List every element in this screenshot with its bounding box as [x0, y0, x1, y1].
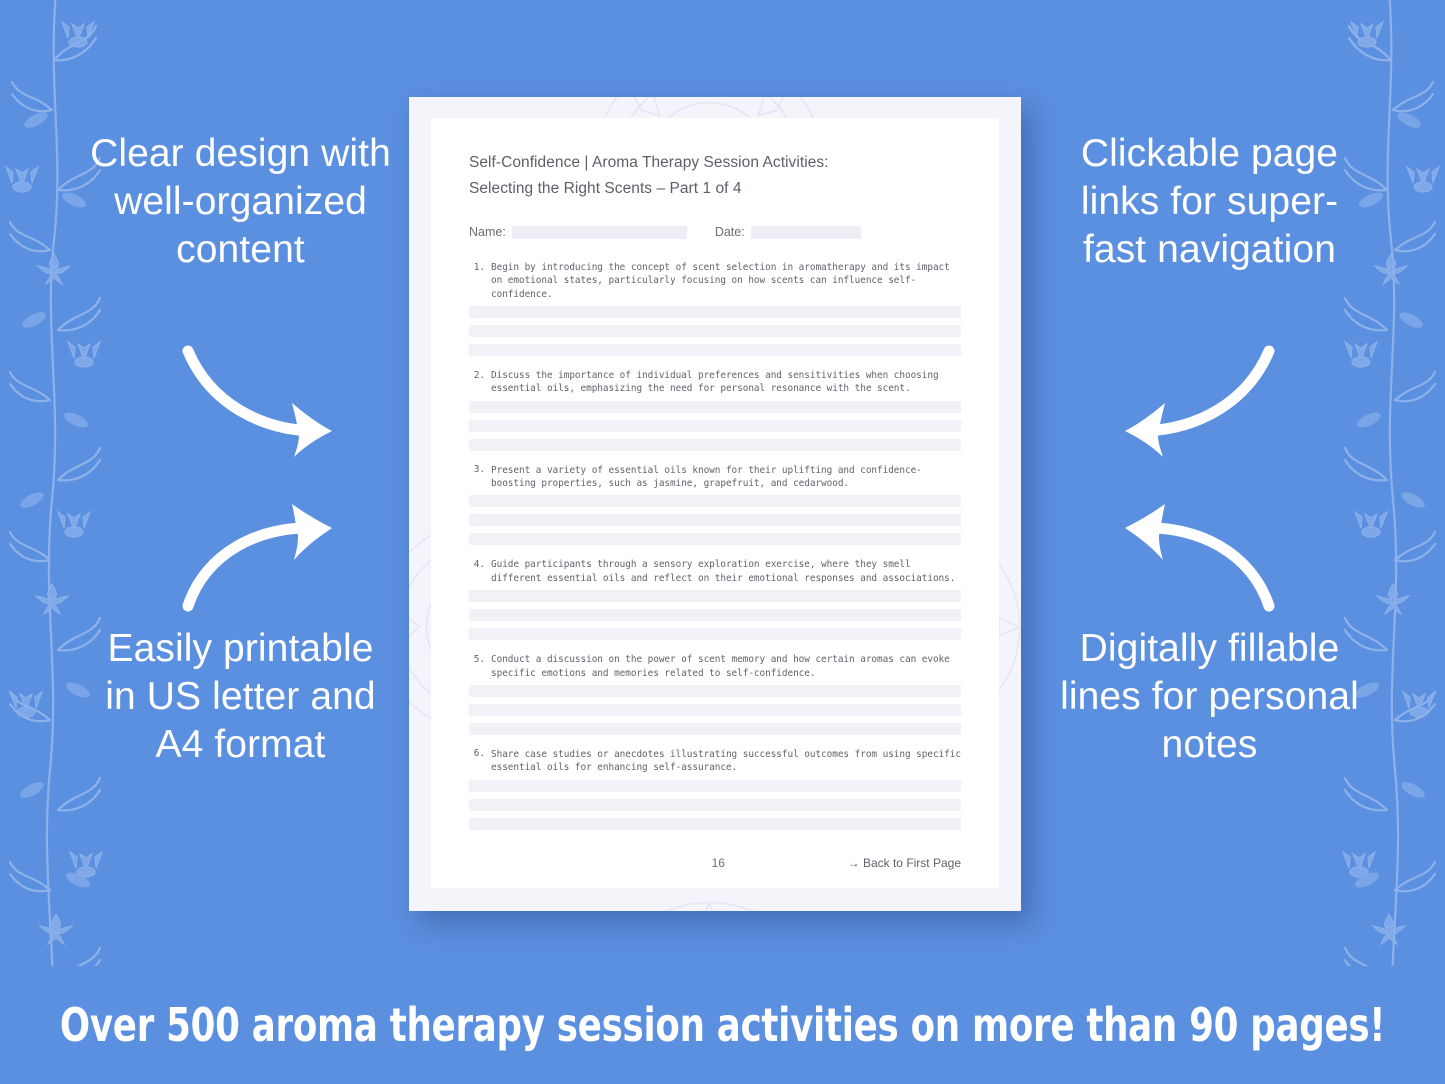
poster-canvas: Clear design with well-organized content… — [0, 0, 1445, 1084]
worksheet-footer: 16 → Back to First Page — [469, 856, 961, 870]
list-item: 4. Guide participants through a sensory … — [469, 558, 961, 640]
item-text: Guide participants through a sensory exp… — [485, 558, 961, 585]
activity-list: 1. Begin by introducing the concept of s… — [469, 261, 961, 829]
item-text: Discuss the importance of individual pre… — [485, 369, 961, 396]
fillable-lines-group — [469, 780, 961, 830]
bottom-banner: Over 500 aroma therapy session activitie… — [0, 966, 1445, 1084]
fillable-line[interactable] — [469, 514, 961, 526]
item-number: 1. — [469, 261, 485, 273]
fillable-line[interactable] — [469, 609, 961, 621]
item-number: 6. — [469, 748, 485, 760]
fillable-line[interactable] — [469, 628, 961, 640]
item-text: Begin by introducing the concept of scen… — [485, 261, 961, 301]
back-to-first-page-link[interactable]: → Back to First Page — [848, 856, 961, 870]
fillable-line[interactable] — [469, 344, 961, 356]
promo-printable: Easily printable in US letter and A4 for… — [88, 625, 393, 769]
list-item: 6. Share case studies or anecdotes illus… — [469, 748, 961, 830]
name-date-row: Name: Date: — [469, 225, 961, 239]
fillable-lines-group — [469, 306, 961, 356]
fillable-line[interactable] — [469, 590, 961, 602]
fillable-line[interactable] — [469, 533, 961, 545]
fillable-lines-group — [469, 495, 961, 545]
fillable-line[interactable] — [469, 723, 961, 735]
fillable-line[interactable] — [469, 704, 961, 716]
fillable-line[interactable] — [469, 306, 961, 318]
worksheet-title-line-1: Self-Confidence | Aroma Therapy Session … — [469, 150, 961, 176]
fillable-line[interactable] — [469, 495, 961, 507]
curved-arrow-icon-bottom-right — [1112, 508, 1277, 613]
list-item: 5. Conduct a discussion on the power of … — [469, 653, 961, 735]
fillable-line[interactable] — [469, 818, 961, 830]
fillable-line[interactable] — [469, 420, 961, 432]
item-number: 4. — [469, 558, 485, 570]
promo-fillable-lines: Digitally fillable lines for personal no… — [1052, 625, 1367, 769]
item-text: Present a variety of essential oils know… — [485, 464, 961, 491]
item-number: 2. — [469, 369, 485, 381]
curved-arrow-icon-bottom-left — [180, 508, 345, 613]
fillable-lines-group — [469, 401, 961, 451]
worksheet-title-line-2: Selecting the Right Scents – Part 1 of 4 — [469, 176, 961, 202]
item-text: Conduct a discussion on the power of sce… — [485, 653, 961, 680]
list-item: 1. Begin by introducing the concept of s… — [469, 261, 961, 356]
item-number: 3. — [469, 464, 485, 476]
fillable-line[interactable] — [469, 780, 961, 792]
bottom-banner-text: Over 500 aroma therapy session activitie… — [60, 998, 1385, 1052]
promo-clear-design: Clear design with well-organized content — [88, 130, 393, 274]
list-item: 2. Discuss the importance of individual … — [469, 369, 961, 451]
worksheet-content-area: Self-Confidence | Aroma Therapy Session … — [431, 118, 999, 888]
fillable-line[interactable] — [469, 799, 961, 811]
worksheet-page-preview[interactable]: Self-Confidence | Aroma Therapy Session … — [409, 97, 1021, 911]
worksheet-title: Self-Confidence | Aroma Therapy Session … — [469, 150, 961, 202]
page-number: 16 — [469, 856, 848, 870]
curved-arrow-icon-top-right — [1112, 345, 1277, 450]
date-input[interactable] — [751, 226, 861, 239]
promo-clickable-links: Clickable page links for super-fast navi… — [1052, 130, 1367, 274]
fillable-line[interactable] — [469, 401, 961, 413]
fillable-line[interactable] — [469, 325, 961, 337]
date-label: Date: — [715, 225, 745, 239]
item-number: 5. — [469, 653, 485, 665]
fillable-lines-group — [469, 590, 961, 640]
name-label: Name: — [469, 225, 506, 239]
item-text: Share case studies or anecdotes illustra… — [485, 748, 961, 775]
fillable-line[interactable] — [469, 439, 961, 451]
curved-arrow-icon-top-left — [180, 345, 345, 450]
fillable-line[interactable] — [469, 685, 961, 697]
fillable-lines-group — [469, 685, 961, 735]
list-item: 3. Present a variety of essential oils k… — [469, 464, 961, 546]
name-input[interactable] — [512, 226, 687, 239]
